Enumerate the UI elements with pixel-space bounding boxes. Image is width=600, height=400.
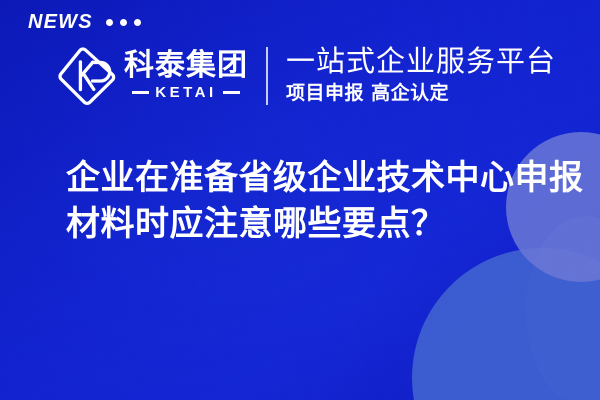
- brand-header: 科泰集团 KETAI 一站式企业服务平台 项目申报 高企认定: [56, 45, 556, 107]
- headline-line-2: 材料时应注意哪些要点？: [66, 201, 566, 247]
- tagline-block: 一站式企业服务平台 项目申报 高企认定: [286, 46, 556, 105]
- headline: 企业在准备省级企业技术中心申报 材料时应注意哪些要点？: [66, 155, 566, 247]
- brand-name-en: KETAI: [155, 84, 216, 101]
- brand-rule-right-icon: [223, 91, 240, 94]
- news-eyebrow: NEWS: [28, 12, 141, 32]
- news-dot-icon: [134, 19, 141, 26]
- news-banner: NEWS 科泰集团 KETAI: [0, 0, 600, 400]
- brand-name-cn: 科泰集团: [124, 51, 248, 82]
- news-dot-icon: [106, 19, 113, 26]
- news-dots: [106, 19, 141, 26]
- brand-wordmark: 科泰集团 KETAI: [124, 51, 248, 101]
- tagline-main: 一站式企业服务平台: [286, 46, 556, 77]
- brand-rule-left-icon: [132, 91, 149, 94]
- tagline-sub: 项目申报 高企认定: [286, 82, 556, 106]
- ketai-diamond-monogram-logo-icon: [56, 45, 118, 107]
- headline-line-1: 企业在准备省级企业技术中心申报: [66, 155, 566, 201]
- news-dot-icon: [120, 19, 127, 26]
- brand-divider: [266, 47, 268, 105]
- brand-name-en-row: KETAI: [132, 84, 239, 101]
- news-label: NEWS: [28, 12, 93, 32]
